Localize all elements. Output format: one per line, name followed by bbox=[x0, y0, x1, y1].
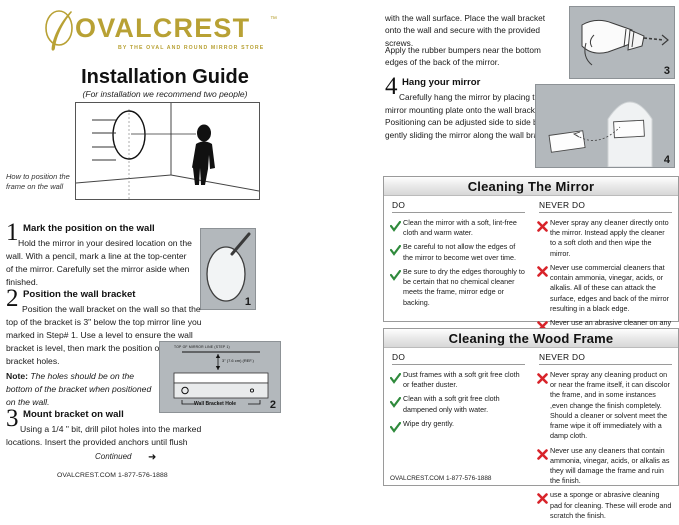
brand-tagline: BY THE OVAL AND ROUND MIRROR STORE bbox=[118, 45, 264, 51]
left-column: OVALCREST ™ BY THE OVAL AND ROUND MIRROR… bbox=[0, 0, 378, 489]
step-2-note: Note: The holes should be on the bottom … bbox=[6, 370, 156, 409]
step-4-heading: Hang your mirror bbox=[402, 77, 480, 88]
mirror-never-label: NEVER DO bbox=[539, 200, 672, 213]
mirror-do-text: Be sure to dry the edges thoroughly to b… bbox=[403, 267, 525, 308]
bracket-hole-label: Wall Bracket Hole bbox=[194, 401, 236, 407]
installation-guide-page: OVALCREST ™ BY THE OVAL AND ROUND MIRROR… bbox=[0, 0, 679, 489]
panel-1-number: 1 bbox=[245, 296, 251, 308]
page-title: Installation Guide bbox=[0, 66, 330, 89]
step-2-heading: Position the wall bracket bbox=[23, 289, 136, 300]
frame-never-column: NEVER DO Never spray any cleaning produc… bbox=[531, 352, 678, 525]
frame-never-label: NEVER DO bbox=[539, 352, 672, 365]
mirror-do-item: Be sure to dry the edges thoroughly to b… bbox=[390, 267, 525, 308]
continued-arrow-icon: ➜ bbox=[148, 452, 156, 463]
mirror-do-column: DO Clean the mirror with a soft, lint-fr… bbox=[384, 200, 531, 342]
cross-icon bbox=[537, 490, 550, 521]
room-perspective-svg bbox=[76, 103, 259, 199]
continued-label: Continued bbox=[95, 452, 131, 461]
brand-name: OVALCREST bbox=[75, 13, 250, 44]
step-3-heading: Mount bracket on wall bbox=[23, 409, 124, 420]
cross-icon bbox=[537, 263, 550, 314]
frame-do-label: DO bbox=[392, 352, 525, 365]
cleaning-mirror-header: Cleaning The Mirror bbox=[384, 177, 678, 196]
panel-4-number: 4 bbox=[664, 154, 670, 166]
cross-icon bbox=[537, 218, 550, 259]
mirror-do-label: DO bbox=[392, 200, 525, 213]
panel-image-2: TOP OF MIRROR LINE (STEP 1) 3" (7.6 cm) … bbox=[159, 341, 281, 413]
mirror-never-item: Never spray any cleaner directly onto th… bbox=[537, 218, 672, 259]
frame-do-text: Wipe dry gently. bbox=[403, 419, 454, 438]
frame-do-item: Dust frames with a soft grit free cloth … bbox=[390, 370, 525, 390]
frame-never-item: Never spray any cleaning product on or n… bbox=[537, 370, 672, 442]
frame-never-text: use a sponge or abrasive cleaning pad fo… bbox=[550, 490, 672, 521]
check-icon bbox=[390, 267, 403, 308]
panel-2-number: 2 bbox=[270, 399, 276, 411]
footer-right: OVALCREST.COM 1-877-576-1888 bbox=[390, 475, 491, 482]
step-1-heading: Mark the position on the wall bbox=[23, 223, 155, 234]
page-subtitle: (For installation we recommend two peopl… bbox=[0, 89, 330, 99]
cleaning-wood-frame-section: Cleaning the Wood Frame DO Dust frames w… bbox=[383, 328, 679, 486]
cleaning-mirror-title: Cleaning The Mirror bbox=[468, 179, 595, 194]
step-3-body: Using a 1/4 " bit, drill pilot holes int… bbox=[6, 423, 221, 449]
cleaning-wood-frame-columns: DO Dust frames with a soft grit free clo… bbox=[384, 348, 678, 525]
mirror-do-item: Be careful to not allow the edges of the… bbox=[390, 242, 525, 262]
panel-image-1: 1 bbox=[200, 228, 256, 310]
frame-do-text: Clean with a soft grit free cloth dampen… bbox=[403, 394, 525, 414]
drill-illustration bbox=[570, 7, 674, 78]
cross-icon bbox=[537, 446, 550, 487]
mirror-do-text: Clean the mirror with a soft, lint-free … bbox=[403, 218, 525, 238]
frame-never-text: Never use any cleaners that contain ammo… bbox=[550, 446, 672, 487]
bracket-measurement: 3" (7.6 cm) (REF.) bbox=[222, 358, 254, 363]
frame-do-text: Dust frames with a soft grit free cloth … bbox=[403, 370, 525, 390]
footer-left: OVALCREST.COM 1-877-576-1888 bbox=[57, 472, 168, 479]
check-icon bbox=[390, 218, 403, 238]
cross-icon bbox=[537, 370, 550, 442]
mirror-do-text: Be careful to not allow the edges of the… bbox=[403, 242, 525, 262]
wall-position-diagram bbox=[75, 102, 260, 200]
panel-3-number: 3 bbox=[664, 65, 670, 77]
frame-never-item: use a sponge or abrasive cleaning pad fo… bbox=[537, 490, 672, 521]
trademark-symbol: ™ bbox=[270, 16, 277, 23]
cleaning-mirror-columns: DO Clean the mirror with a soft, lint-fr… bbox=[384, 196, 678, 342]
panel-image-4: 4 bbox=[535, 84, 675, 168]
frame-never-item: Never use any cleaners that contain ammo… bbox=[537, 446, 672, 487]
mirror-never-item: Never use commercial cleaners that conta… bbox=[537, 263, 672, 314]
note-label: Note: bbox=[6, 371, 28, 381]
intro-paragraph-2: Apply the rubber bumpers near the bottom… bbox=[385, 44, 560, 69]
brand-logo: OVALCREST ™ BY THE OVAL AND ROUND MIRROR… bbox=[42, 8, 292, 56]
mirror-never-text: Never spray any cleaner directly onto th… bbox=[550, 218, 672, 259]
check-icon bbox=[390, 394, 403, 414]
panel-image-3: 3 bbox=[569, 6, 675, 79]
mirror-mounting-illustration bbox=[536, 85, 674, 167]
cleaning-mirror-section: Cleaning The Mirror DO Clean the mirror … bbox=[383, 176, 679, 322]
mirror-do-item: Clean the mirror with a soft, lint-free … bbox=[390, 218, 525, 238]
check-icon bbox=[390, 242, 403, 262]
cleaning-wood-frame-header: Cleaning the Wood Frame bbox=[384, 329, 678, 348]
diagram-caption: How to position the frame on the wall bbox=[6, 172, 76, 192]
note-text: The holes should be on the bottom of the… bbox=[6, 371, 151, 407]
frame-do-item: Wipe dry gently. bbox=[390, 419, 525, 438]
frame-do-column: DO Dust frames with a soft grit free clo… bbox=[384, 352, 531, 525]
frame-never-text: Never spray any cleaning product on or n… bbox=[550, 370, 672, 442]
right-column: with the wall surface. Place the wall br… bbox=[383, 0, 679, 489]
check-icon bbox=[390, 419, 403, 438]
step-1-body: Hold the mirror in your desired location… bbox=[6, 237, 196, 289]
mirror-never-column: NEVER DO Never spray any cleaner directl… bbox=[531, 200, 678, 342]
mirror-never-text: Never use commercial cleaners that conta… bbox=[550, 263, 672, 314]
cleaning-wood-frame-title: Cleaning the Wood Frame bbox=[449, 331, 614, 346]
check-icon bbox=[390, 370, 403, 390]
frame-do-item: Clean with a soft grit free cloth dampen… bbox=[390, 394, 525, 414]
